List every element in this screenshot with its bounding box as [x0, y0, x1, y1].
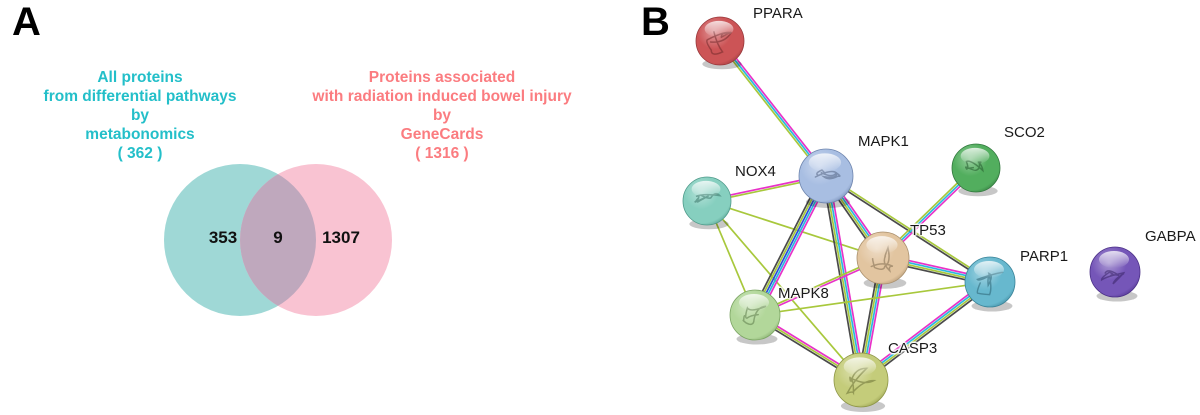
node-gloss	[692, 181, 721, 197]
node-gloss	[809, 153, 841, 171]
network-edge-strand	[765, 198, 814, 294]
venn-count-intersection: 9	[258, 228, 298, 248]
node-label-tp53: TP53	[910, 222, 946, 239]
node-label-ppara: PPARA	[753, 5, 803, 22]
network-node-mapk8[interactable]	[730, 290, 780, 345]
network-edge-strand	[734, 58, 811, 156]
network-edge-strand	[774, 329, 839, 369]
venn-count-right-exclusive: 1307	[298, 228, 384, 248]
panel-a-venn: A All proteins from differential pathway…	[0, 0, 620, 415]
node-gloss	[844, 357, 876, 375]
network-edge-strand	[728, 180, 801, 195]
network-edge	[728, 180, 801, 197]
node-gloss	[866, 236, 897, 254]
network-edge-strand	[716, 221, 747, 294]
node-label-casp3: CASP3	[888, 340, 937, 357]
network-edge	[732, 57, 812, 158]
network-edge-strand	[883, 298, 974, 367]
node-gloss	[961, 148, 990, 164]
node-gloss	[705, 21, 734, 37]
network-edge-strand	[775, 327, 840, 367]
network-edge-strand	[729, 182, 802, 197]
network-edge-strand	[762, 196, 811, 292]
panel-b-network: B PPARANOX4MAPK1SCO2TP53PARP1MAPK8CASP3G…	[620, 0, 1200, 415]
network-edge	[774, 325, 841, 368]
node-label-parp1: PARP1	[1020, 248, 1068, 265]
node-gloss	[1099, 251, 1129, 268]
node-gloss	[974, 261, 1004, 278]
network-edge-strand	[732, 60, 809, 158]
network-node-parp1[interactable]	[965, 257, 1015, 312]
node-label-nox4: NOX4	[735, 163, 776, 180]
node-label-gabpa: GABPA	[1145, 228, 1196, 245]
node-label-mapk1: MAPK1	[858, 133, 909, 150]
network-node-mapk1[interactable]	[799, 149, 853, 208]
network-edge-strand	[735, 57, 812, 155]
node-label-mapk8: MAPK8	[778, 285, 829, 302]
network-edge-strand	[767, 199, 816, 295]
network-edge-strand	[764, 197, 813, 293]
venn-diagram-svg	[0, 0, 620, 415]
network-node-casp3[interactable]	[834, 353, 888, 412]
network-edge-strand	[769, 200, 818, 296]
node-label-sco2: SCO2	[1004, 124, 1045, 141]
network-edge	[762, 196, 819, 296]
network-node-sco2[interactable]	[952, 144, 1000, 196]
network-node-gabpa[interactable]	[1090, 247, 1140, 302]
network-edge	[862, 281, 882, 356]
network-node-ppara[interactable]	[696, 17, 744, 69]
network-edge	[716, 221, 747, 294]
node-gloss	[739, 294, 769, 311]
venn-count-left-exclusive: 353	[188, 228, 258, 248]
network-node-tp53[interactable]	[857, 232, 909, 289]
network-node-nox4[interactable]	[683, 177, 731, 229]
